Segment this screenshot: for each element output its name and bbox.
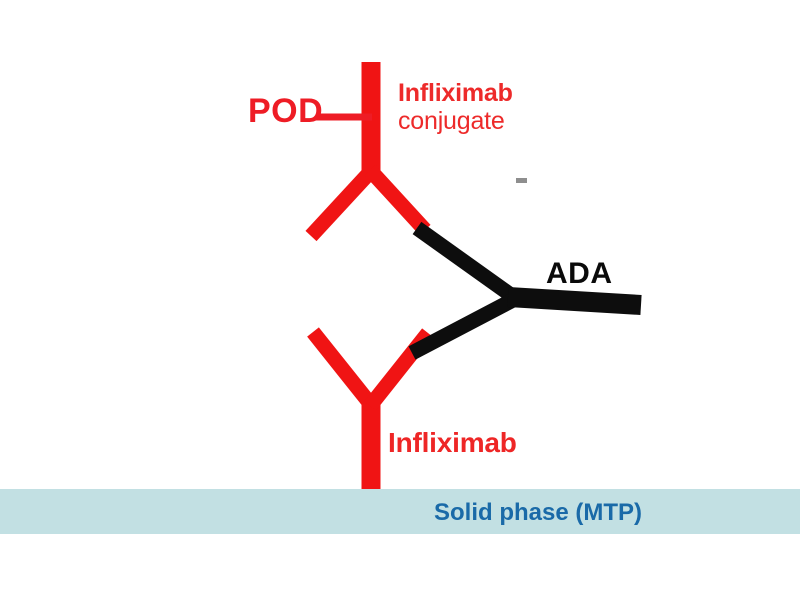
ada-arm-upper [417, 228, 515, 298]
bottom-antibody-arm-left [313, 332, 372, 406]
ada-arm-lower [412, 299, 515, 353]
solid-phase-band [0, 489, 800, 534]
pod-label: POD [248, 94, 323, 130]
scan-artifact-mark [516, 178, 527, 183]
ada-stem [508, 297, 641, 305]
top-antibody-arm-right [370, 170, 425, 230]
figure-root: POD Infliximab conjugate ADA Infliximab … [0, 0, 800, 600]
top-antibody-arm-left [311, 170, 372, 236]
ada-label: ADA [546, 258, 613, 290]
infliximab-conjugate-label-line2: conjugate [398, 108, 513, 134]
infliximab-conjugate-label: Infliximab conjugate [398, 80, 513, 135]
infliximab-capture-label: Infliximab [388, 428, 517, 457]
infliximab-conjugate-label-line1: Infliximab [398, 80, 513, 106]
ada-antibody [412, 228, 641, 353]
solid-phase-label: Solid phase (MTP) [434, 499, 642, 527]
bottom-antibody-infliximab [313, 332, 428, 497]
